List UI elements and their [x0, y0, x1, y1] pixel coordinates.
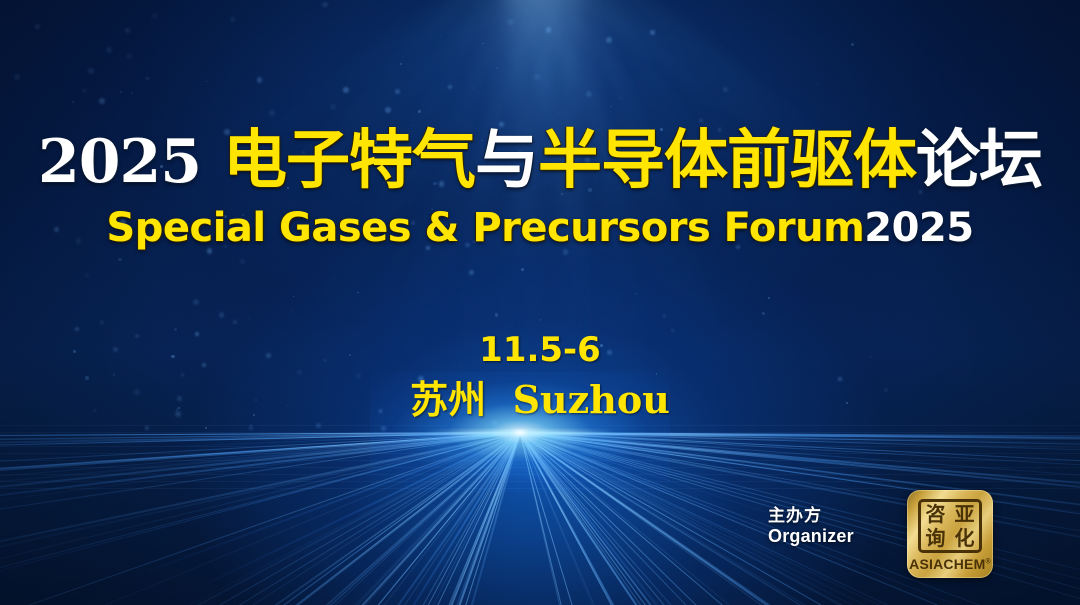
title-english-main: Special Gases & Precursors Forum [106, 205, 864, 251]
event-poster: 2025 电子特气与半导体前驱体论坛 Special Gases & Precu… [0, 0, 1080, 605]
title-segment-4: 半导体前驱体 [538, 124, 916, 198]
logo-char-2: 询 [926, 528, 946, 548]
event-location-english: Suzhou [513, 377, 670, 422]
logo-wordmark: ASIACHEM® [907, 556, 993, 572]
organizer-label-english: Organizer [768, 526, 854, 547]
logo-char-1: 亚 [955, 504, 975, 524]
organizer-label-chinese: 主办方 [768, 506, 854, 526]
logo-char-3: 化 [955, 528, 975, 548]
poster-title-english: Special Gases & Precursors Forum2025 [0, 208, 1080, 248]
title-segment-5: 论坛 [916, 123, 1042, 198]
event-location-chinese: 苏州 [410, 378, 486, 422]
title-segment-3: 与 [475, 123, 538, 198]
poster-title-chinese: 2025 电子特气与半导体前驱体论坛 [0, 128, 1080, 193]
logo-seal-characters: 咨亚询化 [918, 499, 982, 553]
title-english-year: 2025 [864, 205, 973, 251]
logo-char-0: 咨 [926, 504, 946, 524]
title-segment-1 [201, 127, 223, 197]
asiachem-logo: 咨亚询化 ASIACHEM® [907, 490, 993, 578]
title-segment-2: 电子特气 [223, 124, 475, 198]
title-segment-0: 2025 [38, 127, 201, 197]
organizer-block: 主办方 Organizer [768, 506, 854, 547]
event-date: 11.5-6 [0, 333, 1080, 367]
event-location: 苏州 Suzhou [0, 381, 1080, 420]
logo-trademark-symbol: ® [985, 558, 990, 565]
